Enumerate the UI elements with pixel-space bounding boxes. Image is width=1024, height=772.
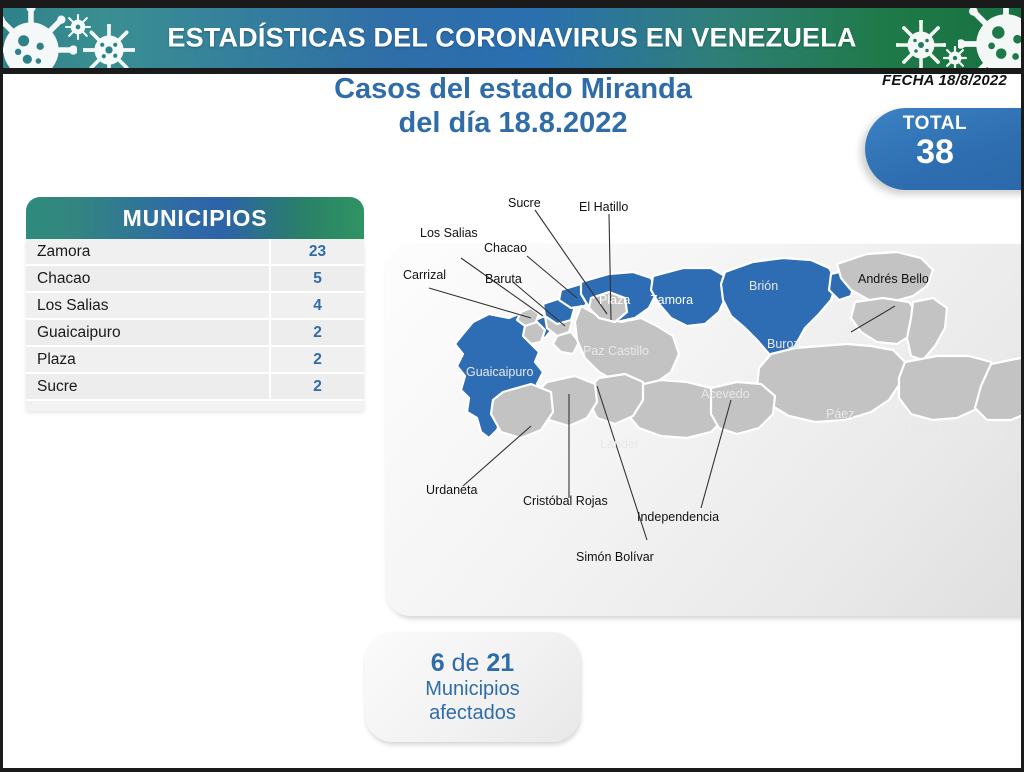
- map-region-los-salias: [523, 322, 545, 344]
- table-cell-value: 2: [271, 374, 364, 399]
- table-cell-name: Guaicaipuro: [26, 320, 271, 345]
- affected-connector: de: [452, 649, 480, 677]
- total-value: 38: [865, 135, 1024, 171]
- map-label-baruta: Baruta: [485, 272, 522, 286]
- total-badge: TOTAL 38: [865, 108, 1024, 190]
- map-label-los-salias: Los Salias: [420, 226, 478, 240]
- municipios-table-header: MUNICIPIOS: [26, 197, 364, 239]
- table-cell-value: 2: [271, 320, 364, 345]
- table-row: Zamora 23: [26, 239, 364, 266]
- table-cell-name: Sucre: [26, 374, 271, 399]
- header-banner-title: ESTADÍSTICAS DEL CORONAVIRUS EN VENEZUEL…: [3, 23, 1021, 54]
- affected-count: 6: [431, 649, 445, 677]
- table-row: Guaicaipuro 2: [26, 320, 364, 347]
- table-cell-name: Plaza: [26, 347, 271, 372]
- table-cell-value: 2: [271, 347, 364, 372]
- table-row: Plaza 2: [26, 347, 364, 374]
- map-label-cristobal-rojas: Cristóbal Rojas: [523, 494, 575, 508]
- table-row: Chacao 5: [26, 266, 364, 293]
- municipios-table-body: Zamora 23 Chacao 5 Los Salias 4 Guaicaip…: [26, 239, 364, 411]
- map-region-plaza: [651, 268, 727, 326]
- map-label-el-hatillo: El Hatillo: [579, 200, 628, 214]
- map-region-acevedo: [757, 344, 905, 422]
- municipios-table: MUNICIPIOS Zamora 23 Chacao 5 Los Salias…: [26, 197, 364, 411]
- map-label-sucre: Sucre: [508, 196, 541, 210]
- table-cell-value: 23: [271, 239, 364, 264]
- table-cell-value: 5: [271, 266, 364, 291]
- affected-label-line-2: afectados: [365, 701, 580, 725]
- table-row: Sucre 2: [26, 374, 364, 401]
- page-title: Casos del estado Miranda del día 18.8.20…: [203, 72, 823, 140]
- map-region-zamora: [721, 258, 837, 358]
- map-label-andres-bello: Andrés Bello: [858, 272, 914, 286]
- page-title-line-1: Casos del estado Miranda: [203, 72, 823, 106]
- affected-municipios-badge: 6 de 21 Municipios afectados: [365, 632, 580, 742]
- table-cell-name: Los Salias: [26, 293, 271, 318]
- leader-carrizal: [429, 288, 531, 318]
- infographic-page: ESTADÍSTICAS DEL CORONAVIRUS EN VENEZUEL…: [0, 0, 1024, 772]
- map-region-independencia: [711, 382, 775, 434]
- header-banner: ESTADÍSTICAS DEL CORONAVIRUS EN VENEZUEL…: [3, 8, 1021, 68]
- map-label-simon-bolivar: Simón Bolívar: [576, 550, 654, 564]
- page-title-line-2: del día 18.8.2022: [203, 106, 823, 140]
- leader-chacao: [527, 256, 577, 298]
- map-label-carrizal: Carrizal: [403, 268, 446, 282]
- affected-ratio: 6 de 21: [365, 649, 580, 677]
- leader-urdaneta: [463, 426, 531, 486]
- affected-total: 21: [486, 649, 514, 677]
- affected-label-line-1: Municipios: [365, 677, 580, 701]
- miranda-map: [385, 186, 1024, 586]
- table-cell-value: 4: [271, 293, 364, 318]
- map-region-andres-bello: [907, 298, 947, 360]
- table-row: Los Salias 4: [26, 293, 364, 320]
- map-label-independencia: Independencia: [637, 510, 719, 524]
- leader-los-salias: [461, 258, 543, 316]
- map-label-urdaneta: Urdaneta: [426, 483, 477, 497]
- table-cell-name: Chacao: [26, 266, 271, 291]
- table-cell-name: Zamora: [26, 239, 271, 264]
- top-dark-strip: [3, 0, 1021, 8]
- total-label: TOTAL: [865, 114, 1024, 135]
- fecha-label: FECHA 18/8/2022: [882, 72, 1007, 89]
- map-region-el-hatillo: [553, 332, 579, 354]
- map-label-chacao: Chacao: [484, 241, 527, 255]
